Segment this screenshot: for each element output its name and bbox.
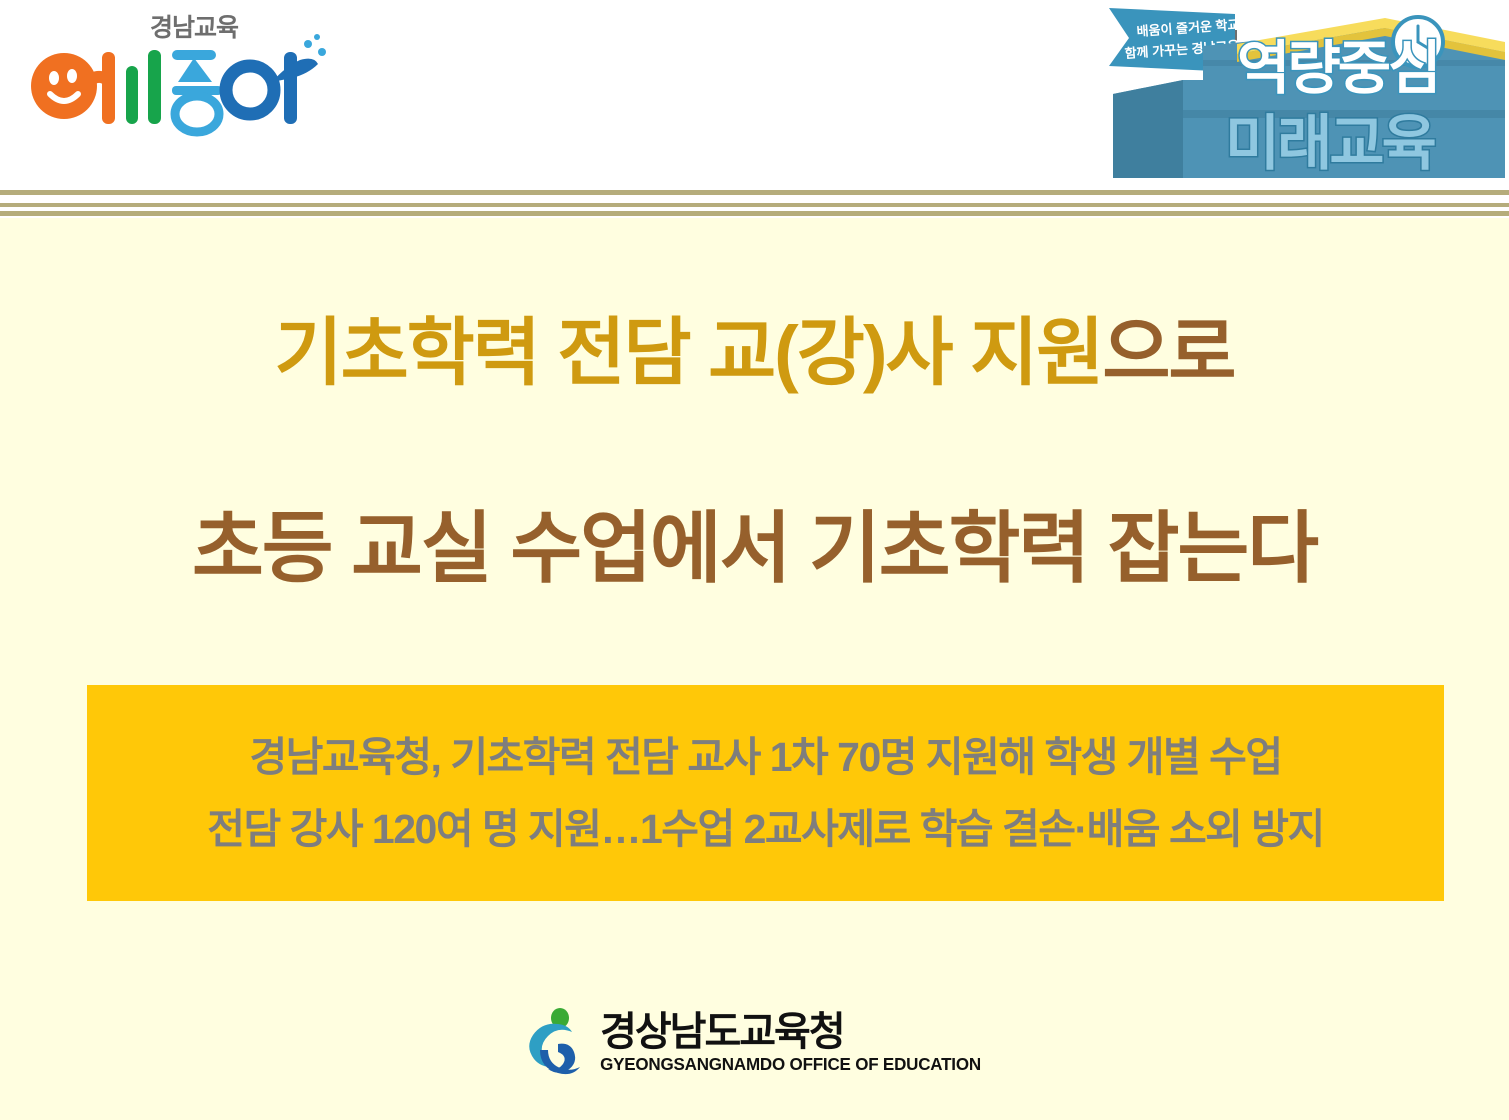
badge-title-line-2: 미래교육 xyxy=(1225,110,1435,177)
divider-line-3 xyxy=(0,211,1509,216)
office-name-en: GYEONGSANGNAMDO OFFICE OF EDUCATION xyxy=(600,1053,981,1076)
badge-title-line-1: 역량중심 xyxy=(1237,36,1438,101)
divider-line-1 xyxy=(0,190,1509,195)
slide-body: 기초학력 전담 교(강)사 지원으로 초등 교실 수업에서 기초학력 잡는다 경… xyxy=(0,218,1509,1120)
headline-tail: 으로 xyxy=(1102,311,1234,394)
office-logo-mark-icon xyxy=(528,1008,586,1078)
headline-highlight: 기초학력 전담 교(강)사 지원 xyxy=(274,311,1102,394)
headline-line-2: 초등 교실 수업에서 기초학력 잡는다 xyxy=(0,501,1509,595)
office-logo: 경상남도교육청 GYEONGSANGNAMDO OFFICE OF EDUCAT… xyxy=(0,998,1509,1088)
header-divider xyxy=(0,188,1509,218)
callout-line-1: 경남교육청, 기초학력 전담 교사 1차 70명 지원해 학생 개별 수업 xyxy=(249,721,1281,793)
headline-line-1: 기초학력 전담 교(강)사 지원으로 xyxy=(0,308,1509,398)
page-header: 경남교육 xyxy=(0,0,1509,188)
brand-wordmark-ai-joha xyxy=(22,34,352,144)
callout-line-2: 전담 강사 120여 명 지원…1수업 2교사제로 학습 결손·배움 소외 방지 xyxy=(207,793,1323,865)
divider-line-2 xyxy=(0,203,1509,207)
brand-logo: 경남교육 xyxy=(22,6,352,146)
office-logo-text: 경상남도교육청 GYEONGSANGNAMDO OFFICE OF EDUCAT… xyxy=(600,1010,981,1076)
campaign-badge: 배움이 즐거운 학교 함께 가꾸는 경남교육 역량중심 미래교육 xyxy=(1085,0,1505,188)
callout-box: 경남교육청, 기초학력 전담 교사 1차 70명 지원해 학생 개별 수업 전담… xyxy=(87,685,1444,901)
office-name-ko: 경상남도교육청 xyxy=(600,1010,844,1054)
